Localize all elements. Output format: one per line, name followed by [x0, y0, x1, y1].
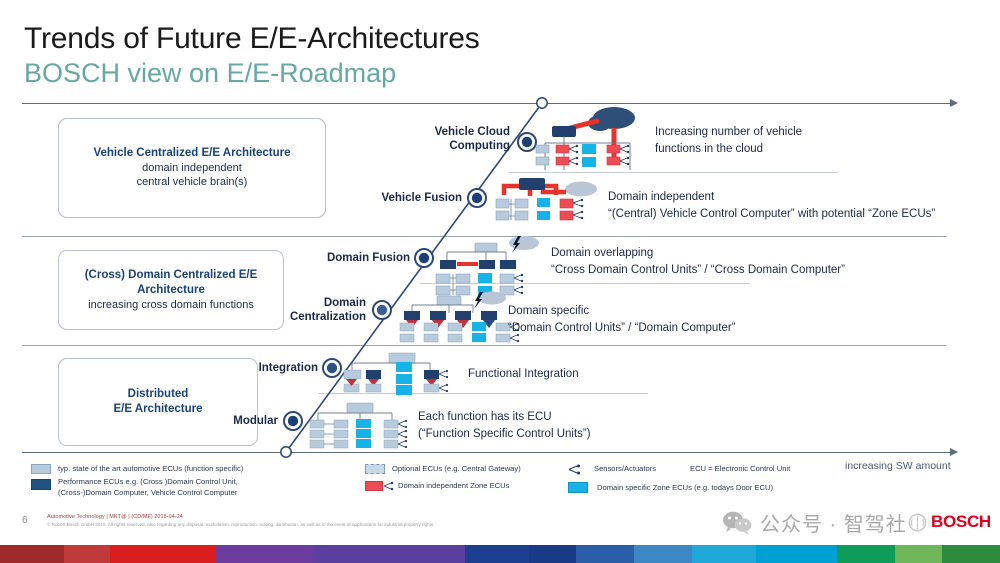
- sub-divider-domainfusion-domaincentral: [420, 283, 750, 284]
- colorbar-segment: [529, 545, 576, 563]
- colorbar-segment: [576, 545, 634, 563]
- colorbar-segment: [837, 545, 895, 563]
- colorbar-segment: [0, 545, 64, 563]
- sub-divider-integration-modular: [318, 393, 648, 394]
- stage-label-line1: Modular: [233, 415, 278, 427]
- arch-box-title-line1: Distributed: [128, 387, 189, 402]
- description-domain-centralization: Domain specific “Domain Control Units” /…: [508, 303, 736, 336]
- colorbar-segment: [64, 545, 111, 563]
- colorbar-segment: [465, 545, 529, 563]
- description-modular: Each function has its ECU (“Function Spe…: [418, 409, 591, 442]
- arch-box-title-line2: Architecture: [137, 283, 205, 298]
- description-vehicle-fusion: Domain independent “(Central) Vehicle Co…: [608, 189, 935, 222]
- legend-label-performance-ecu-line1: Performance ECUs e.g. (Cross )Domain Con…: [58, 477, 238, 487]
- bosch-supergraphic-bar: [0, 545, 1000, 563]
- bosch-anchor-icon: [908, 513, 927, 532]
- stage-label-modular: Modular: [166, 414, 278, 428]
- stage-label-vehicle-fusion: Vehicle Fusion: [340, 191, 462, 205]
- stage-label-domain-fusion: Domain Fusion: [290, 251, 410, 265]
- cluster-domain-centralization: [400, 292, 519, 343]
- description-line2: “(Central) Vehicle Control Computer” wit…: [608, 206, 935, 223]
- stage-label-line2: Centralization: [290, 311, 366, 323]
- page-number: 6: [22, 515, 28, 526]
- colorbar-segment: [756, 545, 837, 563]
- legend-label-optional-ecu: Optional ECUs (e.g. Central Gateway): [392, 464, 521, 474]
- stage-label-line1: Vehicle Cloud: [435, 126, 510, 138]
- legend-label-domain-independent-zone-ecu: Domain independent Zone ECUs: [398, 481, 509, 491]
- colorbar-segment: [110, 545, 215, 563]
- stage-label-line1: Domain: [324, 297, 366, 309]
- description-line1: Functional Integration: [468, 366, 579, 383]
- stage-label-line2: Computing: [449, 140, 510, 152]
- description-line2: “Cross Domain Control Units” / “Cross Do…: [551, 262, 845, 279]
- cluster-vehicle-cloud-computing: [536, 107, 635, 170]
- colorbar-segment: [895, 545, 942, 563]
- colorbar-segment: [314, 545, 465, 563]
- stage-label-vehicle-cloud-computing: Vehicle Cloud Computing: [380, 125, 510, 153]
- sub-divider-cloud-fusion: [508, 172, 838, 173]
- divider-band2-band3: [22, 345, 947, 346]
- watermark-text: 公众号 · 智驾社: [760, 508, 907, 537]
- description-line2: (“Function Specific Control Units”): [418, 426, 591, 443]
- footer-copyright-line: © Robert Bosch GmbH 2018. All rights res…: [47, 522, 434, 527]
- legend-label-sensors-actuators: Sensors/Actuators: [594, 464, 656, 474]
- description-line1: Domain overlapping: [551, 245, 845, 262]
- legend-swatch-domain-specific-zone-ecu: [568, 482, 588, 493]
- arch-box-subtitle-2: central vehicle brain(s): [137, 175, 248, 190]
- legend-swatch-standard-ecu: [31, 464, 51, 474]
- arch-box-subtitle-1: domain independent: [142, 161, 242, 176]
- bosch-logo: BOSCH: [908, 512, 991, 532]
- description-line1: Domain specific: [508, 303, 736, 320]
- axis-bottom: [22, 452, 952, 453]
- legend-abbreviation-ecu: ECU = Electronic Control Unit: [690, 464, 790, 474]
- axis-top-arrowhead: [950, 99, 958, 107]
- axis-label-increasing-sw: increasing SW amount: [845, 460, 951, 472]
- axis-bottom-arrowhead: [950, 448, 958, 456]
- legend-swatch-performance-ecu: [31, 479, 51, 490]
- watermark: 公众号 · 智驾社: [722, 508, 907, 537]
- footer-source-line: Automotive Technology | MKT@ | (CD/MF) 2…: [47, 514, 183, 520]
- colorbar-segment: [942, 545, 1000, 563]
- cluster-integration: [344, 353, 448, 395]
- arch-box-subtitle-1: increasing cross domain functions: [88, 298, 254, 313]
- description-line1: Domain independent: [608, 189, 935, 206]
- cluster-modular: [310, 403, 407, 448]
- stage-label-line1: Vehicle Fusion: [381, 192, 462, 204]
- arch-box-vehicle-centralized[interactable]: Vehicle Centralized E/E Architecture dom…: [58, 118, 326, 218]
- colorbar-segment: [634, 545, 692, 563]
- axis-top: [22, 103, 952, 104]
- legend-label-performance-ecu-line2: (Cross-)Domain Computer, Vehicle Control…: [58, 488, 237, 498]
- legend-label-domain-specific-zone-ecu: Domain specific Zone ECUs (e.g. todays D…: [597, 483, 773, 493]
- stage-label-line1: Domain Fusion: [327, 252, 410, 264]
- legend-swatch-domain-independent-zone-ecu: [365, 481, 383, 491]
- arch-box-title: Vehicle Centralized E/E Architecture: [93, 146, 290, 161]
- colorbar-segment: [692, 545, 756, 563]
- divider-band1-band2: [22, 236, 947, 237]
- legend-label-standard-ecu: typ. state of the art automotive ECUs (f…: [58, 464, 243, 474]
- legend-swatch-optional-ecu: [365, 464, 385, 474]
- wechat-icon: [722, 511, 752, 535]
- stage-label-line1: Integration: [259, 362, 318, 374]
- stage-label-integration: Integration: [198, 361, 318, 375]
- cluster-domain-fusion: [436, 236, 539, 296]
- title-main: Trends of Future E/E-Architectures: [24, 22, 480, 56]
- description-line2: functions in the cloud: [655, 141, 802, 158]
- title-subtitle: BOSCH view on E/E-Roadmap: [24, 58, 480, 88]
- description-line2: “Domain Control Units” / “Domain Compute…: [508, 320, 736, 337]
- arch-box-title-line1: (Cross) Domain Centralized E/E: [85, 268, 258, 283]
- page-title: Trends of Future E/E-Architectures BOSCH…: [24, 22, 480, 88]
- description-integration: Functional Integration: [468, 366, 579, 383]
- cluster-vehicle-fusion: [496, 178, 597, 220]
- description-line1: Increasing number of vehicle: [655, 124, 802, 141]
- legend-sensor-icon-red: [383, 480, 395, 492]
- description-line1: Each function has its ECU: [418, 409, 591, 426]
- description-domain-fusion: Domain overlapping “Cross Domain Control…: [551, 245, 845, 278]
- sensors-actuators-icon: [568, 463, 582, 476]
- colorbar-segment: [215, 545, 314, 563]
- description-vehicle-cloud-computing: Increasing number of vehicle functions i…: [655, 124, 802, 157]
- slide-root: Trends of Future E/E-Architectures BOSCH…: [0, 0, 1000, 563]
- bosch-wordmark: BOSCH: [931, 512, 991, 532]
- stage-label-domain-centralization: Domain Centralization: [248, 296, 366, 324]
